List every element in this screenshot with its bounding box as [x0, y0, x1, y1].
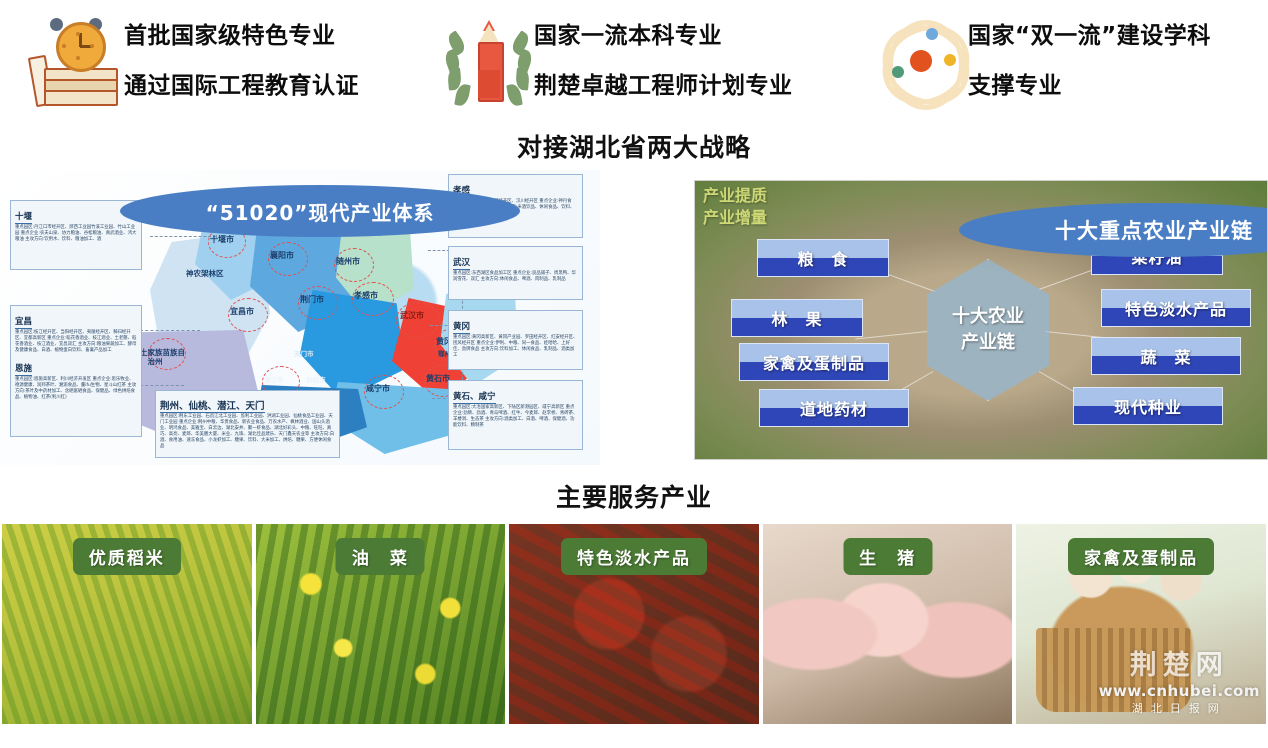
- service-card-pigs[interactable]: 生 猪: [763, 524, 1013, 724]
- chain-chip-grain[interactable]: 粮 食: [757, 239, 889, 277]
- badge-2-line-1: 支撑专业: [968, 66, 1211, 100]
- infobox-huanggang: 黄冈 重点园区:黄冈高新区、黄冈产业园、罗田经开区、红安经开区、团风经开区 重点…: [448, 310, 583, 370]
- city-label-jingmen: 荆门市: [300, 294, 324, 305]
- city-label-yichang: 宜昌市: [230, 306, 254, 317]
- chain-core-hexagon: 十大农业 产业链: [917, 259, 1059, 401]
- chain-chip-vegetables[interactable]: 蔬 菜: [1091, 337, 1241, 375]
- city-label-huangshi: 黄石市: [426, 373, 450, 384]
- atom-icon: [872, 6, 968, 110]
- chain-chip-modern-seed[interactable]: 现代种业: [1073, 387, 1223, 425]
- city-label-xianning: 咸宁市: [366, 383, 390, 394]
- chain-chip-herbs[interactable]: 道地药材: [759, 389, 909, 427]
- badge-1-line-1: 荆楚卓越工程师计划专业: [534, 66, 793, 100]
- infobox-body: 重点园区:枝江经开区、当阳经开区、夷陵经开区、秭归经开区、宜都高新区 重点企业:…: [15, 330, 137, 354]
- infobox-body: 重点园区:黄冈高新区、黄冈产业园、罗田经开区、红安经开区、团风经开区 重点企业:…: [453, 335, 578, 359]
- section-title-strategy: 对接湖北省两大战略: [0, 128, 1268, 164]
- banner-51020: “51020”现代产业体系: [120, 185, 520, 237]
- badge-2-line-0: 国家“双一流”建设学科: [968, 16, 1211, 50]
- agri-bg-text-line-1: 产业增量: [703, 207, 767, 229]
- service-card-label: 优质稻米: [73, 538, 181, 575]
- service-card-label: 家禽及蛋制品: [1068, 538, 1214, 575]
- infobox-title: 武汉: [453, 258, 470, 270]
- service-card-rice[interactable]: 优质稻米: [2, 524, 252, 724]
- service-card-freshwater[interactable]: 特色淡水产品: [509, 524, 759, 724]
- watermark-url: www.cnhubei.com: [1099, 682, 1260, 700]
- infobox-body: 重点园区:丹江口市经开区、郧西工业园竹溪工业园、竹山工业园 重点企业:农夫山泉、…: [15, 225, 137, 243]
- credential-badge-row: 首批国家级特色专业 通过国际工程教育认证: [0, 0, 1268, 126]
- service-card-label: 油 菜: [336, 538, 425, 575]
- badge-1-line-0: 国家一流本科专业: [534, 16, 793, 50]
- slide-root: 首批国家级特色专业 通过国际工程教育认证: [0, 0, 1268, 748]
- section-title-service: 主要服务产业: [0, 478, 1268, 514]
- connector-line: [140, 330, 200, 331]
- city-label-suizhou: 随州市: [336, 256, 360, 267]
- infobox-body: 重点园区:东西湖区食品加工区 重点企业:良品铺子、周黑鸭、华润雪花、双汇 主攻方…: [453, 271, 578, 283]
- hubei-map-panel: 十堰市 襄阳市 神农架林区 随州市 孝感市 荆门市 武汉市 宜昌市 鄂州市 黄冈…: [0, 170, 600, 465]
- infobox-title: 十堰: [15, 212, 32, 224]
- strategy-panels: 十堰市 襄阳市 神农架林区 随州市 孝感市 荆门市 武汉市 宜昌市 鄂州市 黄冈…: [0, 170, 1268, 470]
- infobox-body: 重点园区:大冶国家高新区、下陆区新港园区、咸宁高新区 重点企业:劲牌、劲酒、青岛…: [453, 405, 578, 429]
- connector-line: [140, 385, 184, 386]
- badge-item-0: 首批国家级特色专业 通过国际工程教育认证: [28, 6, 428, 110]
- badge-0-line-1: 通过国际工程教育认证: [124, 66, 359, 100]
- banner-ten-chains: 十大重点农业产业链: [959, 203, 1268, 257]
- service-card-poultry-eggs[interactable]: 家禽及蛋制品 荆楚网 www.cnhubei.com 湖北日报网: [1016, 524, 1266, 724]
- badge-0-line-0: 首批国家级特色专业: [124, 16, 359, 50]
- infobox-jingzhou-group: 荆州、仙桃、潜江、天门 重点园区:荆东工业园、石首江北工业园、监利工业园、洪湖工…: [155, 390, 340, 458]
- agriculture-chain-panel: 产业提质 产业增量 十大农业 产业链 粮 食 林 果 家禽及蛋制品 道地药材 菜…: [694, 180, 1268, 460]
- service-card-label: 特色淡水产品: [561, 538, 707, 575]
- service-card-rapeseed[interactable]: 油 菜: [256, 524, 506, 724]
- city-label-wuhan: 武汉市: [400, 310, 424, 321]
- infobox-title: 宜昌: [15, 317, 32, 329]
- city-label-shiyan: 十堰市: [210, 234, 234, 245]
- city-label-tianmen: 天门市: [294, 348, 314, 358]
- infobox-title: 黄冈: [453, 322, 470, 334]
- agri-bg-text-line-0: 产业提质: [703, 185, 767, 207]
- infobox-body: 重点园区:荆东工业园、石首江北工业园、监利工业园、洪湖工业园、仙桃食品工业园、天…: [160, 414, 335, 450]
- chain-core-line-0: 十大农业: [952, 304, 1024, 330]
- city-label-shennongjia: 神农架林区: [186, 268, 224, 279]
- badge-item-1: 国家一流本科专业 荆楚卓越工程师计划专业: [438, 6, 858, 110]
- infobox-title: 荆州、仙桃、潜江、天门: [160, 401, 265, 413]
- chain-chip-freshwater[interactable]: 特色淡水产品: [1101, 289, 1251, 327]
- alarm-clock-books-icon: [28, 6, 124, 110]
- watermark-brand: 荆楚网: [1099, 643, 1260, 682]
- city-label-xiantao: 仙桃市: [306, 374, 326, 384]
- pencil-laurel-icon: [438, 6, 534, 110]
- infobox-title: 恩施: [15, 364, 32, 376]
- infobox-wuhan: 武汉 重点园区:东西湖区食品加工区 重点企业:良品铺子、周黑鸭、华润雪花、双汇 …: [448, 246, 583, 300]
- watermark: 荆楚网 www.cnhubei.com 湖北日报网: [1099, 643, 1260, 716]
- city-label-xiangyang: 襄阳市: [270, 250, 294, 261]
- chain-spoke: [855, 331, 927, 340]
- infobox-yichang-enshi: 宜昌 重点园区:枝江经开区、当阳经开区、夷陵经开区、秭归经开区、宜都高新区 重点…: [10, 305, 142, 437]
- chain-chip-poultry-egg[interactable]: 家禽及蛋制品: [739, 343, 889, 381]
- badge-item-2: 国家“双一流”建设学科 支撑专业: [872, 6, 1211, 110]
- city-label-qianjiang: 潜江市: [264, 374, 284, 384]
- chain-chip-forest-fruit[interactable]: 林 果: [731, 299, 863, 337]
- agri-bg-text: 产业提质 产业增量: [703, 185, 767, 229]
- city-label-xiaogan: 孝感市: [354, 290, 378, 301]
- chain-core-line-1: 产业链: [961, 330, 1015, 356]
- service-industry-strip: 优质稻米 油 菜 特色淡水产品 生 猪 家禽及蛋制品 荆楚网 www.cnhub…: [0, 524, 1268, 724]
- connector-line: [150, 236, 216, 237]
- service-card-label: 生 猪: [843, 538, 932, 575]
- infobox-title: 黄石、咸宁: [453, 392, 496, 404]
- watermark-sub: 湖北日报网: [1099, 700, 1260, 716]
- infobox-body: 重点园区:恩施高新区、利川经济开发区 重点企业:思乐牧业、德源健康、润邦茶叶、湘…: [15, 377, 137, 401]
- infobox-huangshi-xianning: 黄石、咸宁 重点园区:大冶国家高新区、下陆区新港园区、咸宁高新区 重点企业:劲牌…: [448, 380, 583, 450]
